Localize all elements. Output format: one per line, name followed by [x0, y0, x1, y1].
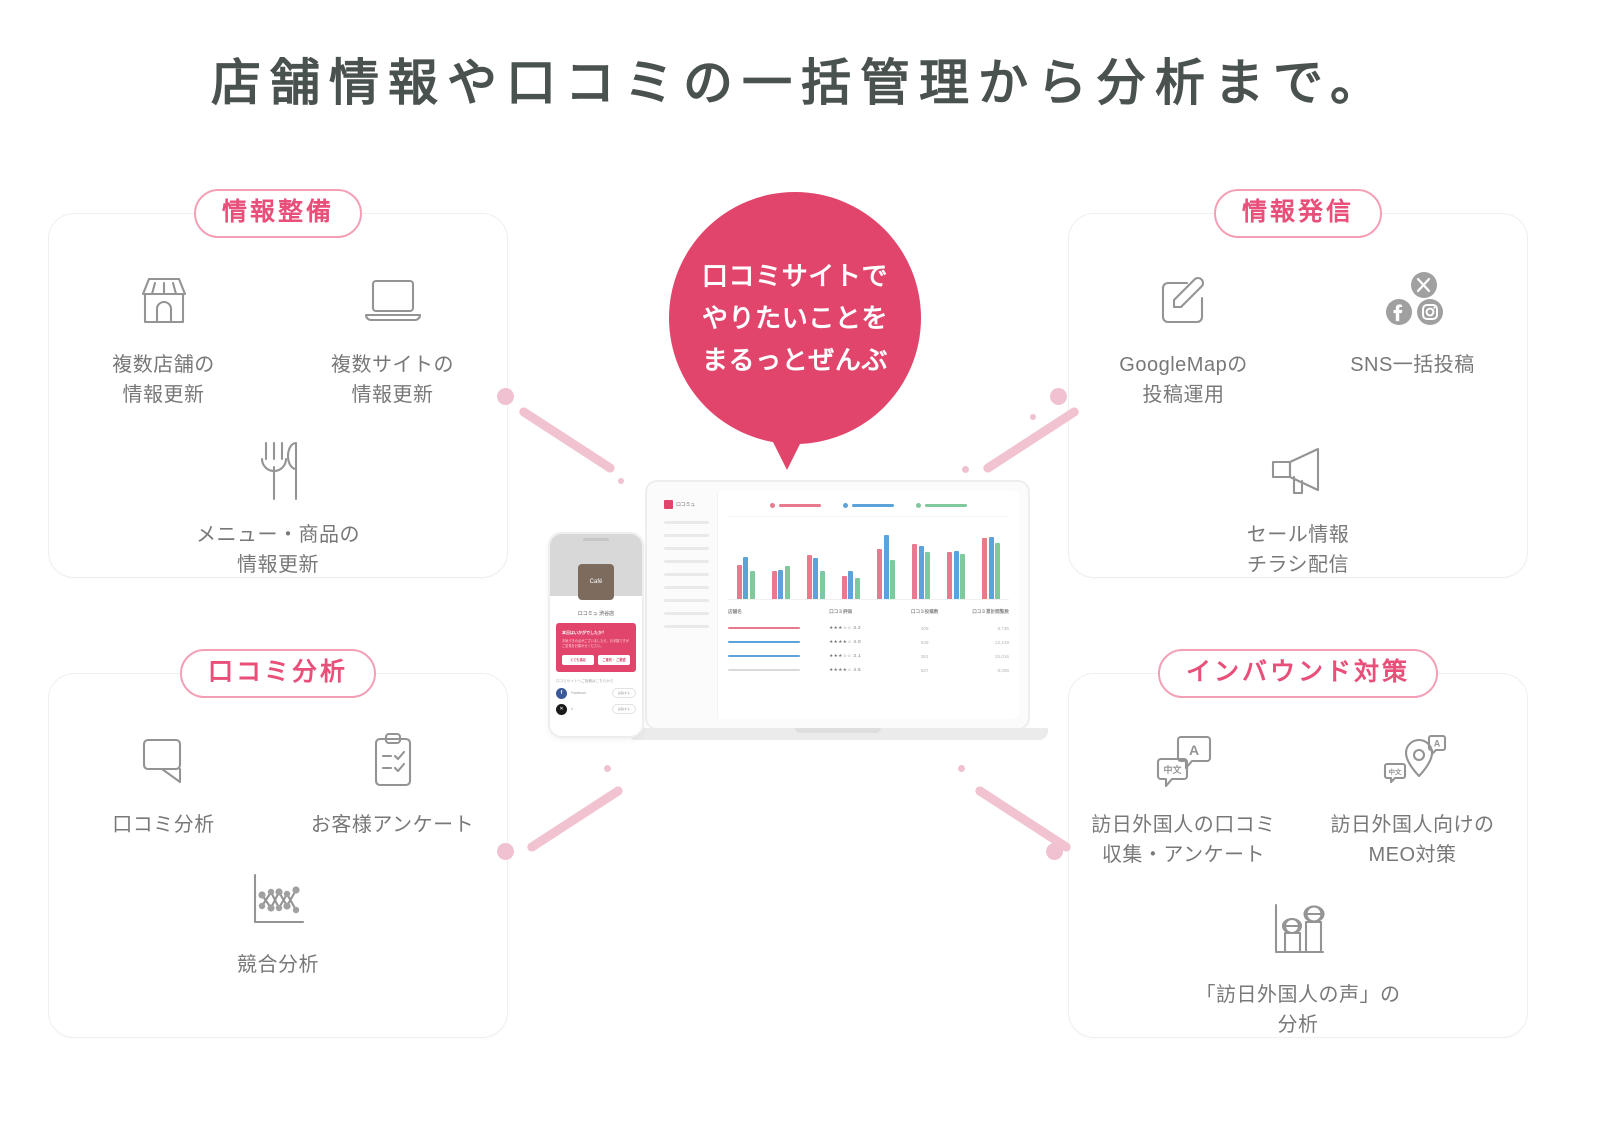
feature-menu-product-update[interactable]: メニュー・商品の 情報更新	[49, 430, 507, 586]
posts-cell: 627	[897, 668, 953, 673]
svg-text:中文: 中文	[1388, 767, 1402, 776]
sidebar-nav-item[interactable]	[664, 560, 709, 563]
edit-square-icon	[1154, 266, 1214, 336]
connector-dot-top-left-large	[497, 388, 514, 405]
translate-bubbles-icon: A 中文	[1148, 726, 1220, 796]
views-cell: 12,129	[953, 640, 1009, 645]
bar	[785, 566, 790, 599]
satisfied-button[interactable]: とても満足	[562, 655, 594, 665]
legend-dot	[916, 503, 921, 508]
feature-list: 複数店舗の 情報更新 複数サイトの 情報更新 メニ	[49, 260, 507, 586]
feedback-button[interactable]: ご意見・ ご要望	[598, 655, 630, 665]
bar	[855, 578, 860, 599]
feature-list: GoogleMapの 投稿運用	[1069, 260, 1527, 586]
sidebar-nav-item[interactable]	[664, 612, 709, 615]
rating-cell: ★★★☆☆ 3.1	[829, 653, 896, 659]
bar	[750, 571, 755, 599]
connector-dot-top-right-small	[1030, 414, 1036, 420]
cutlery-icon	[249, 436, 307, 506]
sns-name: Facebook	[571, 691, 608, 695]
bar	[982, 538, 987, 599]
bar	[919, 546, 924, 599]
feature-googlemap-posting[interactable]: GoogleMapの 投稿運用	[1069, 260, 1298, 416]
card-badge-inbound-measures: インバウンド対策	[1158, 649, 1438, 698]
speech-bubble-icon	[132, 726, 196, 796]
feature-multi-store-update[interactable]: 複数店舗の 情報更新	[49, 260, 278, 416]
bar	[877, 549, 882, 599]
sidebar-nav-item[interactable]	[664, 625, 709, 628]
sidebar-nav-item[interactable]	[664, 521, 709, 524]
sidebar-nav-item[interactable]	[664, 534, 709, 537]
bar	[848, 571, 853, 599]
sns-icons	[1377, 266, 1449, 336]
clipboard-check-icon	[365, 726, 421, 796]
card-inbound-measures: インバウンド対策 A 中文 訪日外国人の口コミ 収集・アンケート A	[1068, 673, 1528, 1038]
feature-sale-flyer-delivery[interactable]: セール情報 チラシ配信	[1069, 430, 1527, 586]
instagram-icon	[1417, 299, 1443, 325]
feature-foreign-review-collection[interactable]: A 中文 訪日外国人の口コミ 収集・アンケート	[1069, 720, 1298, 876]
bar-chart	[728, 516, 1009, 600]
bar	[954, 551, 959, 599]
map-pin-translate-icon: A 中文	[1377, 726, 1449, 796]
feature-review-analysis[interactable]: 口コミ分析	[49, 720, 278, 846]
promo-title: 本日はいかがでしたか？	[562, 630, 630, 636]
feature-label: 複数サイトの 情報更新	[331, 350, 454, 410]
table-row[interactable]: ★★★☆☆ 3.24058,736	[728, 621, 1009, 635]
table-row[interactable]: ★★★★☆ 4.054812,129	[728, 635, 1009, 649]
phone-promo-card: 本日はいかがでしたか？ お気づきの点がございましたら、お手数ですがご意見をお聞か…	[556, 623, 636, 672]
feature-customer-survey[interactable]: お客様アンケート	[278, 720, 507, 846]
bar-group	[912, 521, 930, 599]
bar-group	[772, 521, 790, 599]
feature-label: お客様アンケート	[311, 810, 474, 840]
column-header: 口コミ評価	[829, 609, 896, 615]
column-header: 店舗名	[728, 609, 829, 615]
center-callout-text: 口コミサイトで やりたいことを まるっとぜんぶ	[702, 255, 888, 381]
laptop-mockup: ロコミュ 店舗名 口コミ評価 口コミ投稿数	[645, 480, 1030, 745]
card-info-publishing: 情報発信 GoogleMapの 投稿運用	[1068, 213, 1528, 578]
posts-cell: 548	[897, 640, 953, 645]
phone-list-title: 口コミサイトへご投稿はこちらから	[556, 679, 636, 684]
bar	[890, 560, 895, 599]
feature-label: GoogleMapの 投稿運用	[1119, 350, 1247, 410]
sns-name: X	[571, 707, 608, 711]
legend-bar	[852, 504, 894, 507]
card-info-maintenance: 情報整備 複数店舗の 情報更新 複数サイトの 情報更新	[48, 213, 508, 578]
scatter-chart-icon	[245, 866, 311, 936]
feature-list: A 中文 訪日外国人の口コミ 収集・アンケート A 中文 訪日外国人向けの ME…	[1069, 720, 1527, 1046]
storefront-icon	[133, 266, 195, 336]
phone-shop-name: ロコミュ 渋谷店	[550, 610, 642, 617]
feature-label: セール情報 チラシ配信	[1247, 520, 1350, 580]
sidebar-nav-item[interactable]	[664, 586, 709, 589]
rating-cell: ★★★☆☆ 3.2	[829, 625, 896, 631]
column-header: 口コミ投稿数	[897, 609, 953, 615]
phone-brand-logo: Café	[578, 564, 614, 600]
svg-text:A: A	[1433, 739, 1440, 749]
bar	[778, 570, 783, 599]
feature-label: 訪日外国人の口コミ 収集・アンケート	[1091, 810, 1276, 870]
connector-dot-bottom-right-large	[1046, 843, 1063, 860]
globe-bar-chart-icon	[1263, 896, 1333, 966]
posts-cell: 405	[897, 626, 953, 631]
laptop-screen: ロコミュ 店舗名 口コミ評価 口コミ投稿数	[656, 491, 1019, 719]
column-header: 口コミ累計閲覧数	[953, 609, 1009, 615]
bar	[912, 544, 917, 599]
store-color-bar	[728, 641, 829, 644]
x-icon	[1411, 272, 1437, 298]
svg-text:中文: 中文	[1163, 764, 1182, 775]
dashboard-logo: ロコミュ	[664, 500, 709, 509]
dashboard-sidebar: ロコミュ	[656, 491, 718, 719]
phone-sns-item[interactable]: fFacebook投稿する	[556, 688, 636, 699]
bar	[813, 558, 818, 599]
bar	[960, 554, 965, 599]
sns-action-button[interactable]: 投稿する	[612, 704, 636, 714]
bar	[842, 576, 847, 599]
connector-dot-top-left-small	[529, 414, 535, 420]
phone-notch	[583, 538, 609, 541]
bar	[925, 552, 930, 599]
feature-label: 口コミ分析	[112, 810, 215, 840]
card-review-analysis: 口コミ分析 口コミ分析 お客様アンケート	[48, 673, 508, 1038]
sidebar-nav-item[interactable]	[664, 573, 709, 576]
connector-dot-bottom-left-large	[497, 843, 514, 860]
bar-group	[947, 521, 965, 599]
legend-item	[916, 503, 967, 508]
feature-label: 訪日外国人向けの MEO対策	[1331, 810, 1495, 870]
sns-avatar-icon: ✕	[556, 704, 567, 715]
legend-item	[770, 503, 821, 508]
table-row[interactable]: ★★★☆☆ 3.136115,016	[728, 649, 1009, 663]
feature-label: メニュー・商品の 情報更新	[196, 520, 360, 580]
bar-group	[842, 521, 860, 599]
bar	[947, 552, 952, 599]
table-header-row: 店舗名 口コミ評価 口コミ投稿数 口コミ累計閲覧数	[728, 609, 1009, 621]
bar	[737, 565, 742, 599]
card-badge-review-analysis: 口コミ分析	[180, 649, 376, 698]
feature-label: SNS一括投稿	[1350, 350, 1475, 380]
phone-sns-list: fFacebook投稿する✕X投稿する	[550, 688, 642, 715]
feature-sns-bulk-post[interactable]: SNS一括投稿	[1298, 260, 1527, 416]
feature-list: 口コミ分析 お客様アンケート	[49, 720, 507, 986]
page-title: 店舗情報や口コミの一括管理から分析まで。	[0, 52, 1600, 115]
bar	[884, 535, 889, 599]
views-cell: 8,736	[953, 626, 1009, 631]
bar	[989, 537, 994, 599]
bar	[807, 555, 812, 599]
sns-avatar-icon: f	[556, 688, 567, 699]
bar-group	[877, 521, 895, 599]
posts-cell: 361	[897, 654, 953, 659]
logo-text: ロコミュ	[676, 501, 695, 508]
bar	[995, 543, 1000, 599]
phone-hero-image: Café	[550, 534, 642, 596]
phone-mockup: Café ロコミュ 渋谷店 本日はいかがでしたか？ お気づきの点がございましたら…	[548, 532, 644, 738]
chart-legend	[728, 503, 1009, 508]
card-badge-info-maintenance: 情報整備	[194, 189, 362, 238]
logo-mark-icon	[664, 500, 673, 509]
facebook-icon	[1386, 299, 1412, 325]
bar	[772, 571, 777, 599]
review-table: 店舗名 口コミ評価 口コミ投稿数 口コミ累計閲覧数 ★★★☆☆ 3.24058,…	[728, 609, 1009, 677]
table-body: ★★★☆☆ 3.24058,736★★★★☆ 4.054812,129★★★☆☆…	[728, 621, 1009, 677]
rating-cell: ★★★★☆ 4.0	[829, 639, 896, 645]
bar	[820, 571, 825, 599]
views-cell: 9,008	[953, 668, 1009, 673]
feature-multi-site-update[interactable]: 複数サイトの 情報更新	[278, 260, 507, 416]
laptop-icon	[360, 266, 426, 336]
connector-line-bottom-left	[526, 785, 625, 854]
svg-text:A: A	[1188, 742, 1198, 758]
card-badge-info-publishing: 情報発信	[1214, 189, 1382, 238]
store-color-bar	[728, 669, 829, 672]
connector-dot-top-right-large	[1050, 388, 1067, 405]
sns-action-button[interactable]: 投稿する	[612, 688, 636, 698]
store-color-bar	[728, 655, 829, 658]
laptop-notch	[795, 728, 881, 733]
device-mockup: ロコミュ 店舗名 口コミ評価 口コミ投稿数	[540, 470, 1040, 770]
legend-bar	[779, 504, 821, 507]
table-row[interactable]: ★★★★☆ 4.56279,008	[728, 663, 1009, 677]
bar	[743, 557, 748, 599]
legend-bar	[925, 504, 967, 507]
legend-dot	[843, 503, 848, 508]
feature-foreign-voice-analysis[interactable]: 「訪日外国人の声」の 分析	[1069, 890, 1527, 1046]
promo-buttons: とても満足 ご意見・ ご要望	[562, 655, 630, 665]
megaphone-icon	[1264, 436, 1332, 506]
store-color-bar	[728, 627, 829, 630]
legend-dot	[770, 503, 775, 508]
bar-group	[737, 521, 755, 599]
phone-sns-item[interactable]: ✕X投稿する	[556, 704, 636, 715]
sidebar-nav-item[interactable]	[664, 599, 709, 602]
feature-label: 競合分析	[237, 950, 319, 980]
center-callout-circle: 口コミサイトで やりたいことを まるっとぜんぶ	[669, 192, 921, 444]
promo-body: お気づきの点がございましたら、お手数ですがご意見をお聞かせください。	[562, 639, 630, 649]
feature-foreign-meo-measures[interactable]: A 中文 訪日外国人向けの MEO対策	[1298, 720, 1527, 876]
feature-competitor-analysis[interactable]: 競合分析	[49, 860, 507, 986]
views-cell: 15,016	[953, 654, 1009, 659]
feature-label: 複数店舗の 情報更新	[112, 350, 215, 410]
dashboard-main: 店舗名 口コミ評価 口コミ投稿数 口コミ累計閲覧数 ★★★☆☆ 3.24058,…	[718, 491, 1019, 719]
legend-item	[843, 503, 894, 508]
feature-label: 「訪日外国人の声」の 分析	[1196, 980, 1401, 1040]
sidebar-nav-item[interactable]	[664, 547, 709, 550]
bar-group	[807, 521, 825, 599]
rating-cell: ★★★★☆ 4.5	[829, 667, 896, 673]
bar-group	[982, 521, 1000, 599]
